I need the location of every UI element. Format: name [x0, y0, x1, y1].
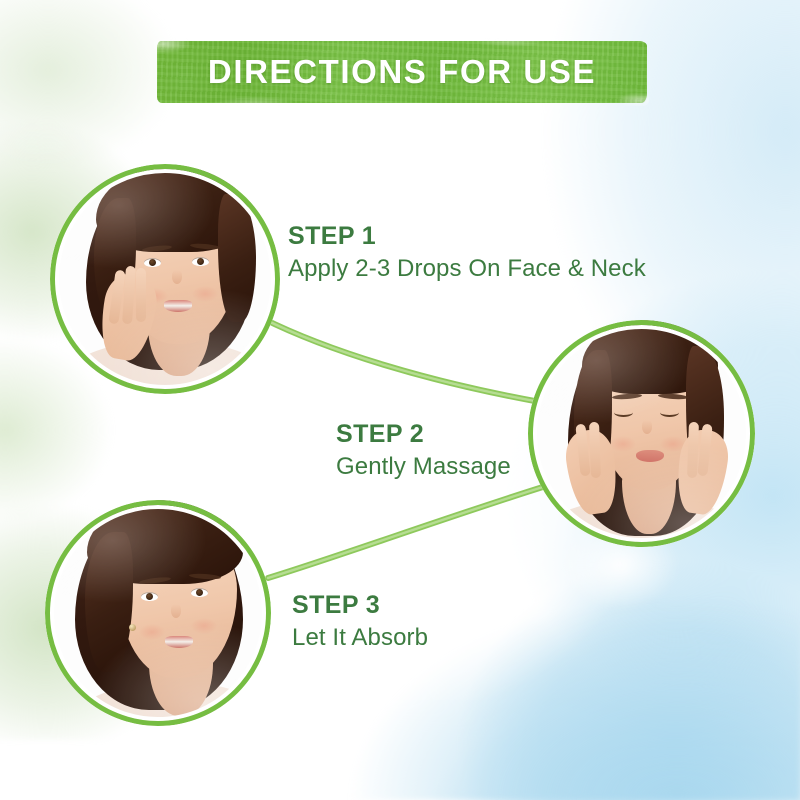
page-title-banner: DIRECTIONS FOR USE	[157, 41, 647, 103]
step-2-text-block: STEP 2 Gently Massage	[336, 420, 511, 481]
page-title: DIRECTIONS FOR USE	[157, 41, 647, 103]
directions-for-use-infographic: DIRECTIONS FOR USE	[0, 0, 800, 800]
green-wash-top-left	[0, 0, 180, 170]
step-1-text-block: STEP 1 Apply 2-3 Drops On Face & Neck	[288, 222, 646, 283]
step-2-description: Gently Massage	[336, 453, 511, 481]
step-3-photo	[45, 500, 271, 726]
step-3-heading: STEP 3	[292, 591, 428, 620]
step-2-photo-circle[interactable]	[528, 320, 755, 547]
step-1-photo	[50, 164, 280, 394]
step-3-description: Let It Absorb	[292, 624, 428, 652]
connector-step1-to-step2	[262, 318, 540, 402]
step-2-photo	[528, 320, 755, 547]
step-1-heading: STEP 1	[288, 222, 646, 251]
connector-step3-to-step2-highlight	[268, 486, 546, 578]
connector-step1-to-step2-highlight	[262, 318, 540, 402]
step-1-description: Apply 2-3 Drops On Face & Neck	[288, 255, 646, 283]
step-3-photo-circle[interactable]	[45, 500, 271, 726]
step-1-photo-circle[interactable]	[50, 164, 280, 394]
connector-step3-to-step2	[268, 486, 546, 578]
step-3-text-block: STEP 3 Let It Absorb	[292, 591, 428, 652]
step-2-heading: STEP 2	[336, 420, 511, 449]
